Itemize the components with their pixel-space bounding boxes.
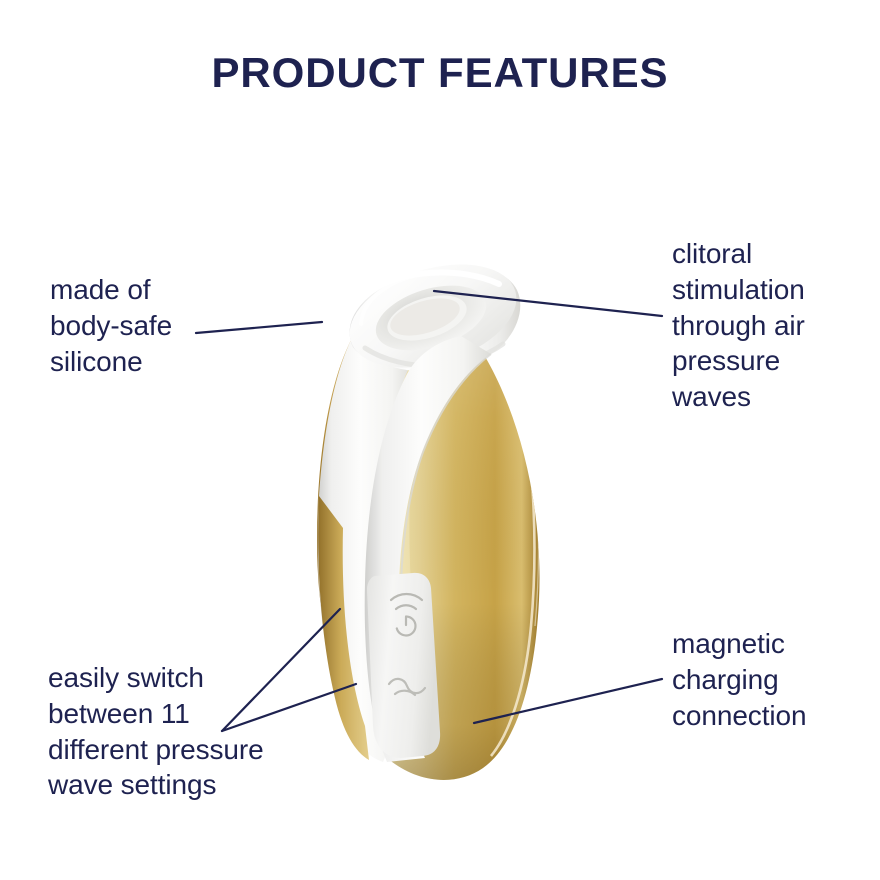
callout-line: body-safe <box>50 308 172 344</box>
callout-line: through air <box>672 308 805 344</box>
callout-magnetic-charging-connection: magnetic charging connection <box>672 626 806 733</box>
callout-line: connection <box>672 698 806 734</box>
callout-line: silicone <box>50 344 172 380</box>
callout-easily-switch-settings: easily switch between 11 different press… <box>48 660 264 803</box>
callout-clitoral-stimulation: clitoral stimulation through air pressur… <box>672 236 805 415</box>
callout-line: made of <box>50 272 172 308</box>
product-features-infographic: PRODUCT FEATURES <box>0 0 880 880</box>
callout-line: between 11 <box>48 696 264 732</box>
callout-line: different pressure <box>48 732 264 768</box>
callout-line: waves <box>672 379 805 415</box>
callout-line: easily switch <box>48 660 264 696</box>
product-illustration <box>255 228 565 798</box>
callout-line: wave settings <box>48 767 264 803</box>
callout-line: clitoral <box>672 236 805 272</box>
page-title: PRODUCT FEATURES <box>0 52 880 94</box>
callout-line: pressure <box>672 343 805 379</box>
callout-line: charging <box>672 662 806 698</box>
callout-line: magnetic <box>672 626 806 662</box>
callout-line: stimulation <box>672 272 805 308</box>
callout-made-of-body-safe-silicone: made of body-safe silicone <box>50 272 172 379</box>
product-control-panel <box>367 573 440 758</box>
